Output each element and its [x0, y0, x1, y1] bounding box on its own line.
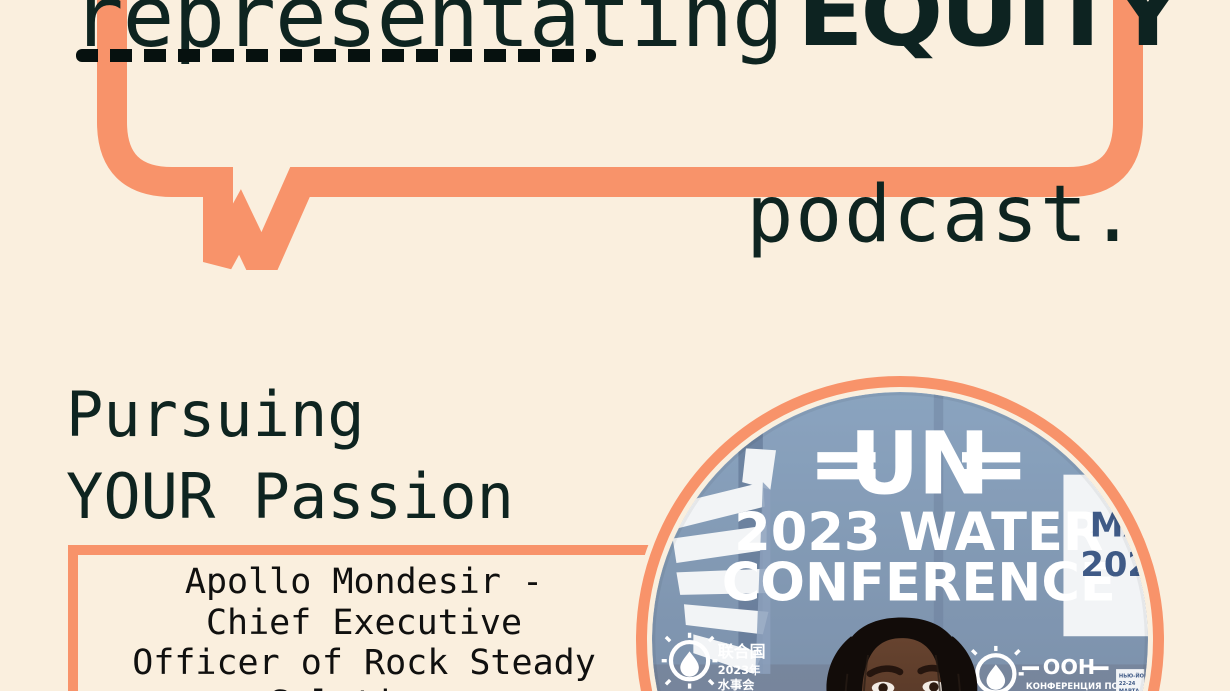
podcast-cover-artwork: representating EQUITY podcast. Pursuing … — [0, 0, 1230, 691]
guest-line-1: Apollo Mondesir - — [68, 562, 660, 603]
episode-title-line-1: Pursuing — [66, 374, 686, 456]
guest-info-text: Apollo Mondesir - Chief Executive Office… — [68, 562, 660, 691]
episode-title: Pursuing YOUR Passion — [66, 374, 686, 538]
episode-title-line-2: YOUR Passion — [66, 456, 686, 538]
svg-text:CONFERENCE: CONFERENCE — [722, 553, 1116, 614]
guest-line-2: Chief Executive — [68, 603, 660, 644]
svg-text:ООН: ООН — [1043, 655, 1095, 679]
guest-line-3: Officer of Rock Steady — [68, 643, 660, 684]
svg-text:2023年: 2023年 — [718, 663, 761, 677]
svg-text:22-24: 22-24 — [1119, 681, 1136, 687]
guest-portrait-circle: UN 2023 WATER CONFERENCE MA 202 — [636, 376, 1164, 691]
guest-line-4: Solutions — [68, 684, 660, 691]
svg-text:КОНФЕРЕНЦИЯ ПО: КОНФЕРЕНЦИЯ ПО — [1026, 681, 1119, 691]
guest-portrait-image: UN 2023 WATER CONFERENCE MA 202 — [652, 392, 1148, 691]
svg-text:UN: UN — [849, 414, 988, 514]
brand-word-podcast: podcast. — [746, 176, 1138, 254]
svg-text:水事会: 水事会 — [718, 677, 755, 691]
svg-text:联合国: 联合国 — [718, 642, 766, 661]
